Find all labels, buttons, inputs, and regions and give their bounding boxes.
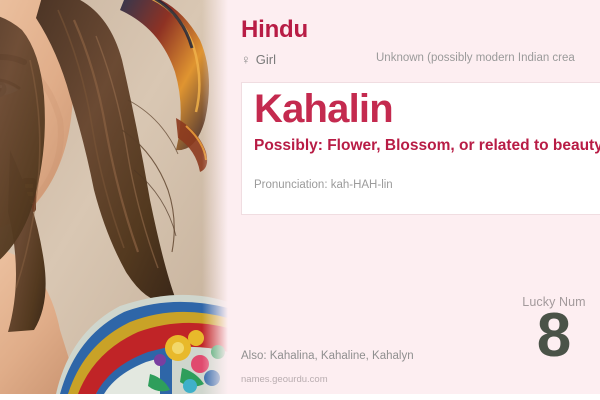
name-pronunciation: Pronunciation: kah-HAH-lin	[254, 179, 393, 191]
lucky-number-value: 8	[494, 307, 600, 366]
name-meaning: Possibly: Flower, Blossom, or related to…	[254, 137, 600, 156]
portrait-indian-girl-photo	[0, 0, 228, 394]
name-detail-card: Kahalin Possibly: Flower, Blossom, or re…	[241, 82, 600, 215]
portrait-photo	[0, 0, 228, 394]
female-icon: ♀	[241, 53, 251, 66]
source-watermark: names.geourdu.com	[241, 374, 328, 385]
name-heading: Kahalin	[254, 87, 393, 132]
info-panel: Hindu ♀ Girl Unknown (possibly modern In…	[228, 0, 600, 394]
gender-row: ♀ Girl	[241, 52, 276, 67]
card-bottom-strip	[0, 394, 600, 400]
name-info-card: Hindu ♀ Girl Unknown (possibly modern In…	[0, 0, 600, 400]
alternate-spellings: Also: Kahalina, Kahaline, Kahalyn	[241, 350, 414, 362]
origin-title: Hindu	[241, 16, 308, 44]
origin-note: Unknown (possibly modern Indian crea	[376, 52, 575, 64]
lucky-number-block: Lucky Num 8	[494, 295, 600, 366]
gender-label: Girl	[256, 52, 276, 67]
